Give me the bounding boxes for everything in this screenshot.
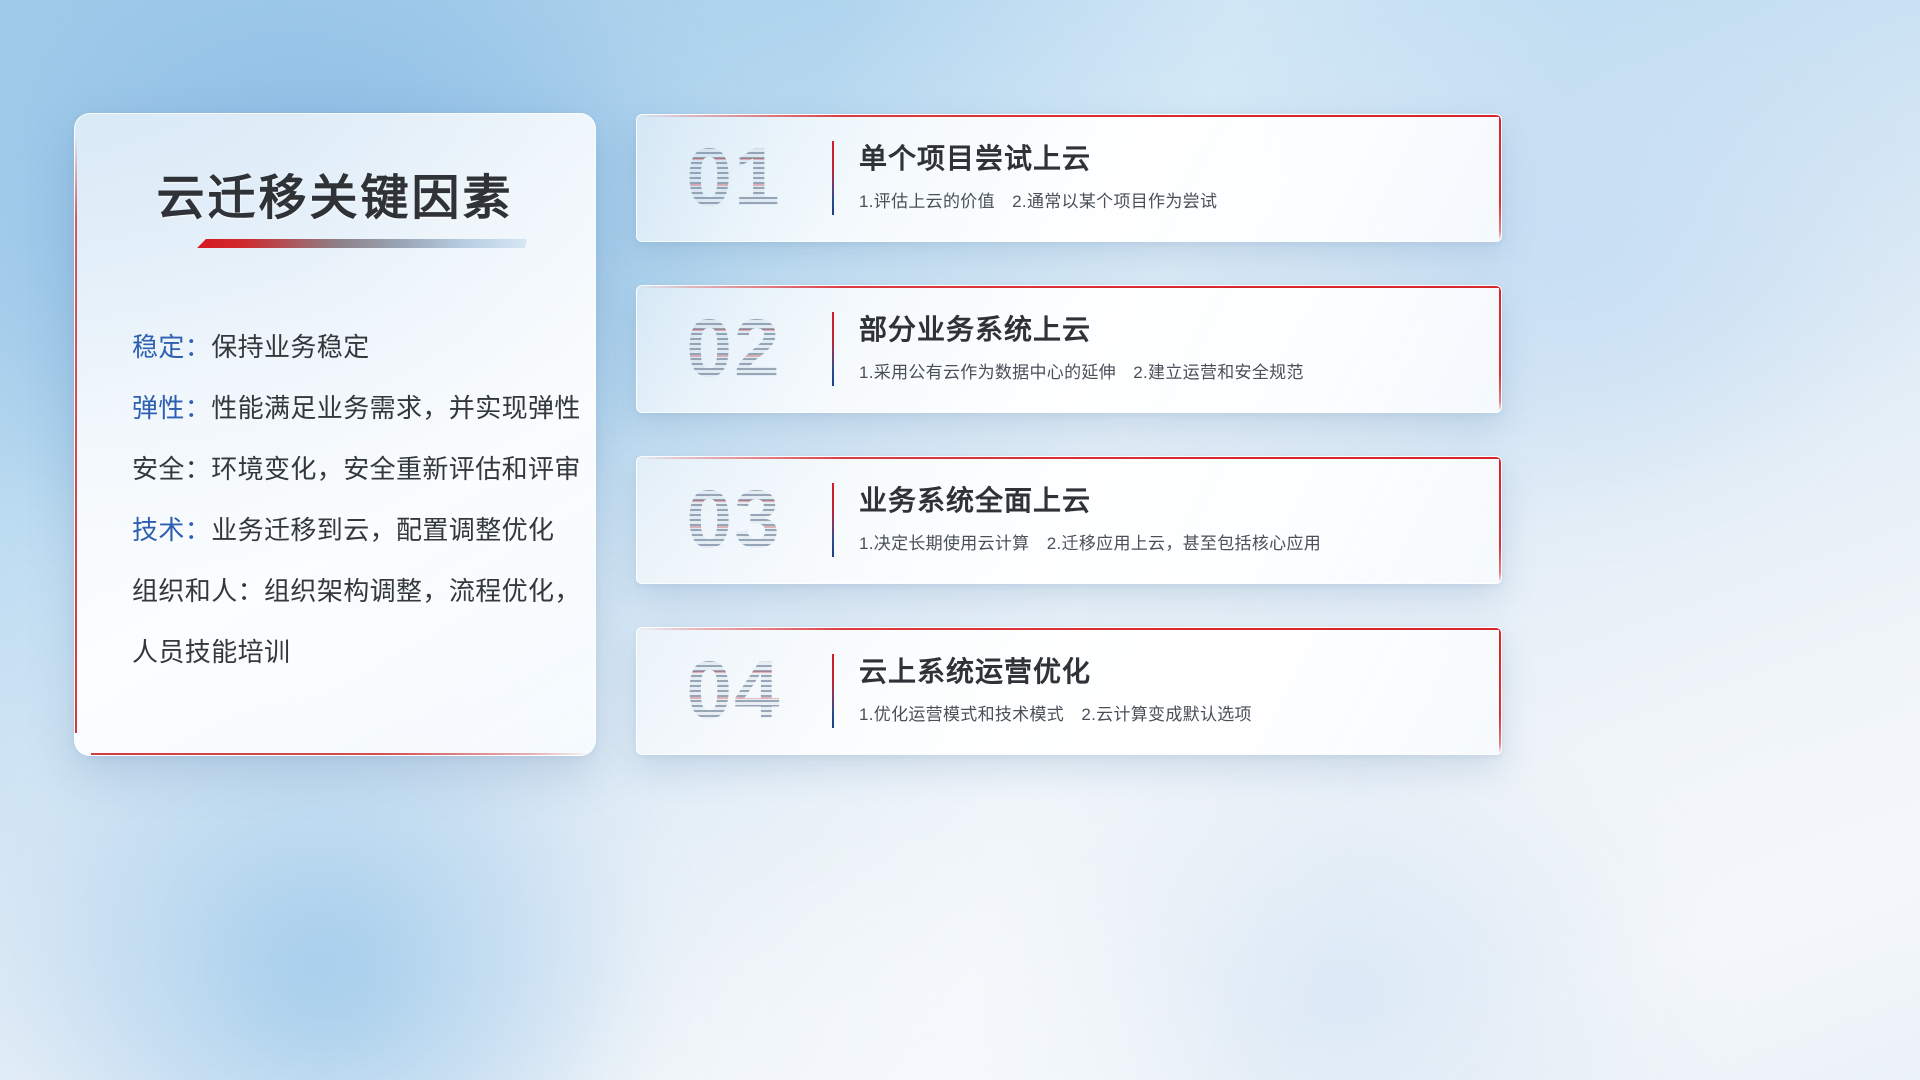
factor-row-security: 安全：环境变化，安全重新评估和评审 xyxy=(132,439,555,500)
factor-row-stability: 稳定：保持业务稳定 xyxy=(132,317,555,378)
factor-key: 弹性： xyxy=(132,393,211,423)
factor-key: 安全： xyxy=(132,454,211,484)
slide-stage: 云迁移关键因素 稳定：保持业务稳定 弹性：性能满足业务需求，并实现弹性 安全：环… xyxy=(0,0,1920,1080)
factor-value: 环境变化，安全重新评估和评审 xyxy=(211,454,581,484)
card-title: 业务系统全面上云 xyxy=(859,481,1473,521)
migration-stage-cards: 01 01 01 单个项目尝试上云 1.评估上云的价值 2.通常以某个项目作为尝… xyxy=(636,114,1502,798)
card-body: 部分业务系统上云 1.采用公有云作为数据中心的延伸 2.建立运营和安全规范 xyxy=(859,310,1473,385)
stage-card-01[interactable]: 01 01 01 单个项目尝试上云 1.评估上云的价值 2.通常以某个项目作为尝… xyxy=(636,114,1502,242)
card-title: 单个项目尝试上云 xyxy=(859,139,1473,179)
factor-key: 组织和人： xyxy=(132,576,264,606)
card-body: 单个项目尝试上云 1.评估上云的价值 2.通常以某个项目作为尝试 xyxy=(859,139,1473,214)
card-body: 业务系统全面上云 1.决定长期使用云计算 2.迁移应用上云，甚至包括核心应用 xyxy=(859,481,1473,556)
factor-row-organization-cont: 人员技能培训 xyxy=(132,622,555,683)
stage-number-red-streak: 02 xyxy=(659,303,809,395)
title-underline-bar xyxy=(197,239,527,248)
factor-row-organization: 组织和人：组织架构调整，流程优化， xyxy=(132,561,555,622)
key-factors-panel: 云迁移关键因素 稳定：保持业务稳定 弹性：性能满足业务需求，并实现弹性 安全：环… xyxy=(74,113,596,756)
stage-card-03[interactable]: 03 03 03 业务系统全面上云 1.决定长期使用云计算 2.迁移应用上云，甚… xyxy=(636,456,1502,584)
card-accent-divider xyxy=(832,312,834,386)
factor-value: 性能满足业务需求，并实现弹性 xyxy=(211,393,581,423)
card-subtitle: 1.决定长期使用云计算 2.迁移应用上云，甚至包括核心应用 xyxy=(859,532,1473,556)
stage-number-red-streak: 04 xyxy=(659,645,809,737)
page-title: 云迁移关键因素 xyxy=(75,158,595,228)
factor-row-elasticity: 弹性：性能满足业务需求，并实现弹性 xyxy=(132,378,555,439)
card-subtitle: 1.评估上云的价值 2.通常以某个项目作为尝试 xyxy=(859,190,1473,214)
factor-value: 业务迁移到云，配置调整优化 xyxy=(211,515,554,545)
factor-row-technology: 技术：业务迁移到云，配置调整优化 xyxy=(132,500,555,561)
card-subtitle: 1.优化运营模式和技术模式 2.云计算变成默认选项 xyxy=(859,703,1473,727)
stage-card-02[interactable]: 02 02 02 部分业务系统上云 1.采用公有云作为数据中心的延伸 2.建立运… xyxy=(636,285,1502,413)
factor-key: 技术： xyxy=(132,515,211,545)
card-accent-divider xyxy=(832,654,834,728)
stage-card-04[interactable]: 04 04 04 云上系统运营优化 1.优化运营模式和技术模式 2.云计算变成默… xyxy=(636,627,1502,755)
factor-list: 稳定：保持业务稳定 弹性：性能满足业务需求，并实现弹性 安全：环境变化，安全重新… xyxy=(132,317,555,683)
factor-key: 稳定： xyxy=(132,332,211,362)
factor-value: 人员技能培训 xyxy=(132,637,290,667)
card-body: 云上系统运营优化 1.优化运营模式和技术模式 2.云计算变成默认选项 xyxy=(859,652,1473,727)
card-accent-divider xyxy=(832,141,834,215)
stage-number-red-streak: 03 xyxy=(659,474,809,566)
card-title: 部分业务系统上云 xyxy=(859,310,1473,350)
card-subtitle: 1.采用公有云作为数据中心的延伸 2.建立运营和安全规范 xyxy=(859,361,1473,385)
factor-value: 组织架构调整，流程优化， xyxy=(264,576,581,606)
stage-number-red-streak: 01 xyxy=(659,132,809,224)
card-title: 云上系统运营优化 xyxy=(859,652,1473,692)
factor-value: 保持业务稳定 xyxy=(211,332,369,362)
card-accent-divider xyxy=(832,483,834,557)
